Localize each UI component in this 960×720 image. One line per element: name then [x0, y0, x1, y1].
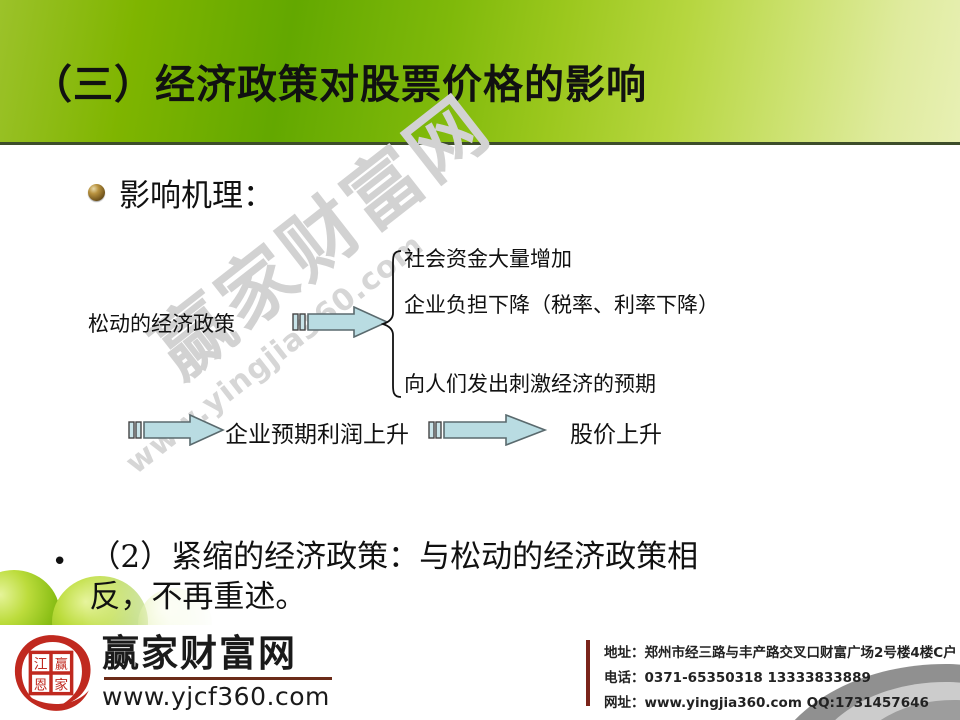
brand-url: www.yjcf360.com — [102, 682, 330, 711]
presentation-slide: （三）经济政策对股票价格的影响 赢家财富网 www.yingjia360.com… — [0, 0, 960, 720]
branch-item-2: 企业负担下降（税率、利率下降） — [404, 293, 804, 319]
page-title: （三）经济政策对股票价格的影响 — [32, 52, 647, 110]
slide-header-band: （三）经济政策对股票价格的影响 — [0, 0, 960, 145]
brand-name: 赢家财富网 — [102, 635, 330, 674]
brand-divider — [104, 677, 332, 680]
contact-phone-label: 电话： — [604, 670, 645, 686]
block-arrow-right-icon — [128, 414, 226, 446]
contact-phone: 电话：0371-65350318 13333833889 — [604, 666, 957, 691]
expected-profit-label: 企业预期利润上升 — [225, 415, 409, 449]
block-arrow-right-icon — [292, 306, 390, 338]
slide-body: 影响机理： 松动的经济政策 社会资金大量增加 企业负担下降（税率、利率下降） 向… — [0, 145, 960, 625]
bullet-dot-icon: • — [52, 537, 67, 618]
branch-item-3: 向人们发出刺激经济的预期 — [404, 372, 656, 398]
brand-block: 赢家财富网 www.yjcf360.com — [102, 635, 330, 711]
slide-footer: 江 赢 恩 家 赢家财富网 www.yjcf360.com 地址：郑州市经三路与… — [0, 625, 960, 720]
bottom-paragraph: （2）紧缩的经济政策：与松动的经济政策相反，不再重述。 — [89, 537, 752, 618]
contact-address-label: 地址： — [604, 645, 645, 661]
contact-info: 地址：郑州市经三路与丰产路交叉口财富广场2号楼4楼C户 电话：0371-6535… — [604, 641, 957, 716]
contact-website-value: www.yingjia360.com QQ:1731457646 — [645, 695, 929, 711]
contact-website-label: 网址： — [604, 695, 645, 711]
contact-address: 地址：郑州市经三路与丰产路交叉口财富广场2号楼4楼C户 — [604, 641, 957, 666]
left-curly-brace-icon — [381, 249, 403, 399]
seal-char-2: 赢 — [55, 657, 68, 673]
branch-item-1: 社会资金大量增加 — [404, 247, 572, 273]
stock-price-rise-label: 股价上升 — [570, 415, 662, 449]
footer-divider — [586, 640, 590, 706]
seal-char-4: 家 — [54, 676, 68, 693]
sphere-bullet-icon — [88, 184, 105, 201]
mechanism-heading-row: 影响机理： — [88, 170, 274, 215]
company-seal-icon: 江 赢 恩 家 — [8, 630, 94, 716]
contact-phone-value: 0371-65350318 13333833889 — [645, 670, 871, 686]
bottom-bullet-row: • （2）紧缩的经济政策：与松动的经济政策相反，不再重述。 — [52, 537, 752, 618]
mechanism-label: 影响机理： — [119, 170, 274, 215]
contact-website: 网址：www.yingjia360.com QQ:1731457646 — [604, 691, 957, 716]
company-logo[interactable]: 江 赢 恩 家 赢家财富网 www.yjcf360.com — [8, 630, 330, 716]
seal-char-1: 江 — [34, 657, 48, 673]
block-arrow-right-icon — [428, 414, 548, 446]
source-policy-label: 松动的经济政策 — [88, 308, 235, 338]
contact-address-value: 郑州市经三路与丰产路交叉口财富广场2号楼4楼C户 — [645, 645, 957, 661]
seal-char-3: 恩 — [34, 677, 48, 693]
